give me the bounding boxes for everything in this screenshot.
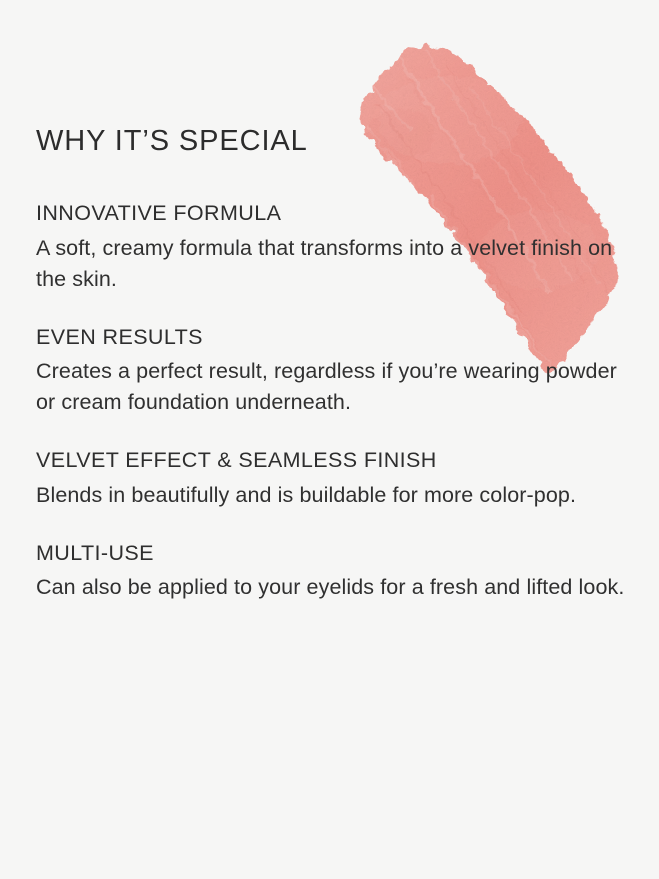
feature-block-even-results: EVEN RESULTS Creates a perfect result, r…: [36, 324, 636, 418]
feature-body: A soft, creamy formula that transforms i…: [36, 233, 632, 295]
feature-body: Can also be applied to your eyelids for …: [36, 572, 632, 603]
page-title: WHY IT’S SPECIAL: [36, 126, 636, 156]
feature-block-innovative-formula: INNOVATIVE FORMULA A soft, creamy formul…: [36, 200, 636, 294]
feature-block-multi-use: MULTI-USE Can also be applied to your ey…: [36, 540, 636, 603]
feature-heading: EVEN RESULTS: [36, 324, 636, 352]
feature-content: WHY IT’S SPECIAL INNOVATIVE FORMULA A so…: [36, 126, 636, 603]
feature-block-velvet-effect: VELVET EFFECT & SEAMLESS FINISH Blends i…: [36, 447, 636, 510]
feature-heading: INNOVATIVE FORMULA: [36, 200, 636, 228]
product-description-panel: WHY IT’S SPECIAL INNOVATIVE FORMULA A so…: [0, 0, 659, 879]
feature-body: Creates a perfect result, regardless if …: [36, 356, 632, 418]
feature-heading: VELVET EFFECT & SEAMLESS FINISH: [36, 447, 636, 475]
feature-body: Blends in beautifully and is buildable f…: [36, 480, 632, 511]
feature-heading: MULTI-USE: [36, 540, 636, 568]
